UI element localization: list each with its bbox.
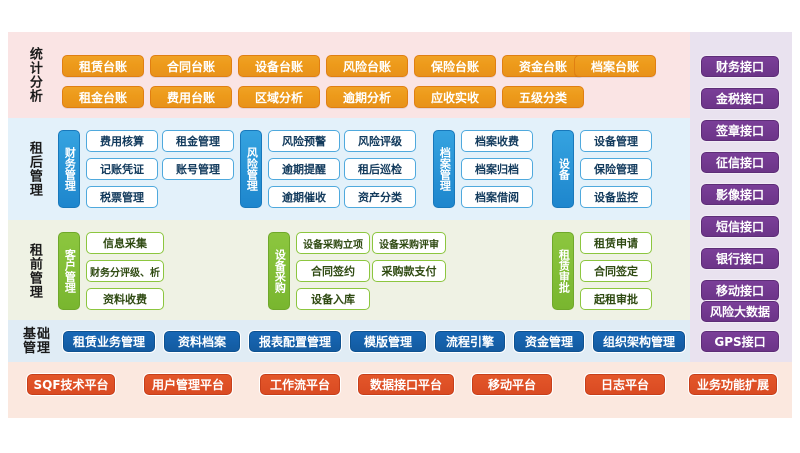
post-equipment-item-2[interactable]: 设备监控 <box>580 186 652 208</box>
interface-item-5[interactable]: 短信接口 <box>700 215 780 238</box>
stat-item-1[interactable]: 合同台账 <box>150 55 232 77</box>
stat-item-12[interactable]: 五级分类 <box>502 86 584 108</box>
pre-procurement-item-0[interactable]: 设备采购立项 <box>296 232 370 254</box>
basic-item-2[interactable]: 报表配置管理 <box>248 330 342 353</box>
stat-item-7[interactable]: 租金台账 <box>62 86 144 108</box>
interface-item-1[interactable]: 金税接口 <box>700 87 780 110</box>
stat-item-3[interactable]: 风险台账 <box>326 55 408 77</box>
pre-group-header-customer[interactable]: 客户管理 <box>58 232 80 310</box>
basic-item-1[interactable]: 资料档案 <box>163 330 241 353</box>
post-finance-item-0[interactable]: 费用核算 <box>86 130 158 152</box>
post-risk-item-2[interactable]: 逾期提醒 <box>268 158 340 180</box>
pre-approval-item-1[interactable]: 合同签定 <box>580 260 652 282</box>
pre-customer-item-2[interactable]: 资料收费 <box>86 288 164 310</box>
interface-item-8[interactable]: 风险大数据 <box>700 300 780 323</box>
stat-item-2[interactable]: 设备台账 <box>238 55 320 77</box>
post-equipment-item-0[interactable]: 设备管理 <box>580 130 652 152</box>
post-group-header-equipment[interactable]: 设备 <box>552 130 574 208</box>
pre-approval-item-2[interactable]: 起租审批 <box>580 288 652 310</box>
platform-item-0[interactable]: SQF技术平台 <box>26 373 116 396</box>
post-archive-item-2[interactable]: 档案借阅 <box>461 186 533 208</box>
pre-group-header-procurement[interactable]: 设备采购 <box>268 232 290 310</box>
stat-item-6[interactable]: 档案台账 <box>574 55 656 77</box>
basic-item-3[interactable]: 模版管理 <box>349 330 427 353</box>
post-group-header-finance[interactable]: 财务管理 <box>58 130 80 208</box>
row-label-basic-line2: 管理 <box>23 342 51 356</box>
post-equipment-item-1[interactable]: 保险管理 <box>580 158 652 180</box>
interface-item-4[interactable]: 影像接口 <box>700 183 780 206</box>
platform-item-2[interactable]: 工作流平台 <box>259 373 341 396</box>
stat-item-8[interactable]: 费用台账 <box>150 86 232 108</box>
row-label-pre-lease: 租前管理 <box>22 240 46 302</box>
row-label-post-lease: 租后管理 <box>22 138 46 200</box>
post-risk-item-0[interactable]: 风险预警 <box>268 130 340 152</box>
post-archive-item-1[interactable]: 档案归档 <box>461 158 533 180</box>
platform-item-1[interactable]: 用户管理平台 <box>143 373 233 396</box>
stat-item-5[interactable]: 资金台账 <box>502 55 584 77</box>
platform-item-5[interactable]: 日志平台 <box>584 373 666 396</box>
post-finance-item-1[interactable]: 租金管理 <box>162 130 234 152</box>
interface-item-3[interactable]: 征信接口 <box>700 151 780 174</box>
interface-item-7[interactable]: 移动接口 <box>700 279 780 302</box>
post-finance-item-4[interactable]: 税票管理 <box>86 186 158 208</box>
stat-item-4[interactable]: 保险台账 <box>414 55 496 77</box>
interface-item-0[interactable]: 财务接口 <box>700 55 780 78</box>
pre-procurement-item-3[interactable]: 采购款支付 <box>372 260 446 282</box>
pre-procurement-item-2[interactable]: 合同签约 <box>296 260 370 282</box>
pre-customer-item-0[interactable]: 信息采集 <box>86 232 164 254</box>
basic-item-4[interactable]: 流程引擎 <box>434 330 506 353</box>
basic-item-6[interactable]: 组织架构管理 <box>592 330 686 353</box>
basic-item-5[interactable]: 资金管理 <box>513 330 585 353</box>
post-group-header-risk[interactable]: 风险管理 <box>240 130 262 208</box>
post-risk-item-4[interactable]: 逾期催收 <box>268 186 340 208</box>
pre-group-header-approval[interactable]: 租赁审批 <box>552 232 574 310</box>
pre-approval-item-0[interactable]: 租赁申请 <box>580 232 652 254</box>
interface-item-2[interactable]: 签章接口 <box>700 119 780 142</box>
platform-item-6[interactable]: 业务功能扩展 <box>688 373 778 396</box>
row-label-basic-line1: 基础 <box>23 328 51 342</box>
post-group-header-archive[interactable]: 档案管理 <box>433 130 455 208</box>
pre-customer-item-1[interactable]: 财务分评级、析 <box>86 260 164 282</box>
row-label-basic: 基础 管理 <box>20 327 54 357</box>
interface-item-6[interactable]: 银行接口 <box>700 247 780 270</box>
pre-procurement-item-1[interactable]: 设备采购评审 <box>372 232 446 254</box>
stat-item-0[interactable]: 租赁台账 <box>62 55 144 77</box>
stat-item-11[interactable]: 应收实收 <box>414 86 496 108</box>
platform-item-3[interactable]: 数据接口平台 <box>357 373 455 396</box>
pre-procurement-item-4[interactable]: 设备入库 <box>296 288 370 310</box>
architecture-diagram: 统计分析 租赁台账 合同台账 设备台账 风险台账 保险台账 资金台账 档案台账 … <box>0 0 800 453</box>
platform-item-4[interactable]: 移动平台 <box>471 373 553 396</box>
post-risk-item-5[interactable]: 资产分类 <box>344 186 416 208</box>
stat-item-10[interactable]: 逾期分析 <box>326 86 408 108</box>
post-finance-item-3[interactable]: 账号管理 <box>162 158 234 180</box>
post-finance-item-2[interactable]: 记账凭证 <box>86 158 158 180</box>
post-archive-item-0[interactable]: 档案收费 <box>461 130 533 152</box>
post-risk-item-1[interactable]: 风险评级 <box>344 130 416 152</box>
stat-item-9[interactable]: 区域分析 <box>238 86 320 108</box>
row-label-statistics: 统计分析 <box>22 44 46 106</box>
post-risk-item-3[interactable]: 租后巡检 <box>344 158 416 180</box>
basic-item-0[interactable]: 租赁业务管理 <box>62 330 156 353</box>
interface-item-9[interactable]: GPS接口 <box>700 330 780 353</box>
